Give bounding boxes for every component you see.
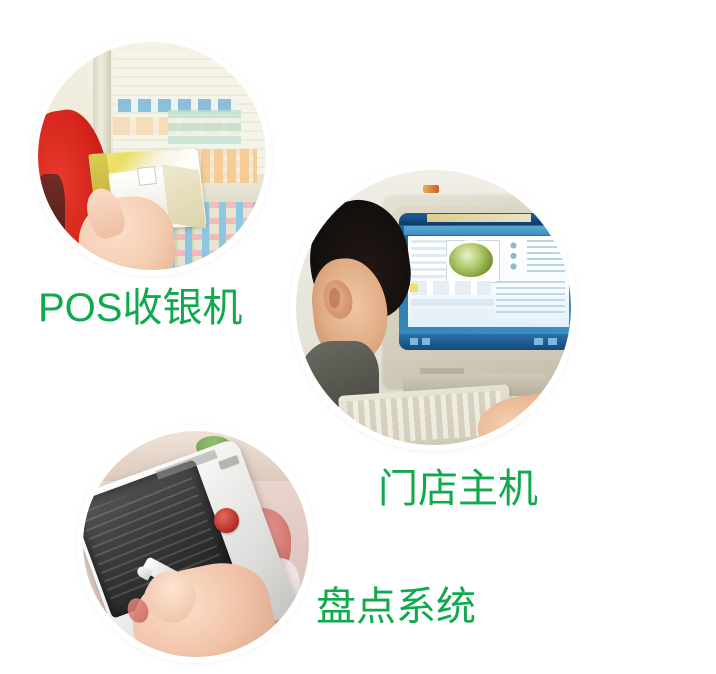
label-store-host-computer: 门店主机	[378, 468, 538, 510]
dark-shadow-area	[38, 174, 65, 270]
app-menu-bar	[404, 226, 570, 234]
photo-content	[296, 170, 571, 445]
pda-red-button	[214, 508, 239, 533]
store-host-computer-photo[interactable]	[296, 170, 571, 445]
highlight-cell	[410, 284, 419, 292]
medicine-box-barcode	[137, 166, 157, 186]
monitor-screen	[399, 213, 571, 351]
photo-content	[38, 42, 266, 270]
photo-content	[83, 431, 309, 657]
data-row-1	[411, 299, 494, 306]
operator-ear-inner	[329, 288, 340, 307]
product-thumbnail	[449, 243, 492, 277]
data-row-2	[411, 309, 494, 316]
label-pos-cash-register: POS收银机	[38, 287, 242, 329]
taskbar-button-1	[410, 338, 419, 345]
monitor-power-led	[423, 185, 440, 193]
pda-corner-dot	[92, 621, 101, 630]
title-bar-accent	[427, 214, 531, 222]
input-fields-row	[411, 281, 491, 295]
tray-icon-2	[548, 338, 557, 345]
text-block-lower-right	[496, 281, 565, 317]
form-field-group	[411, 240, 449, 279]
product-showcase: POS收银机 门店主机 盘点系统	[0, 0, 716, 674]
tree-view-nodes	[503, 237, 524, 278]
text-block-right	[527, 240, 565, 276]
pos-cash-register-photo[interactable]	[38, 42, 266, 270]
tray-icon-1	[534, 338, 543, 345]
taskbar-button-2	[422, 338, 431, 345]
inventory-system-photo[interactable]	[83, 431, 309, 657]
label-inventory-system: 盘点系统	[316, 586, 476, 628]
mint-label-row	[168, 110, 241, 149]
